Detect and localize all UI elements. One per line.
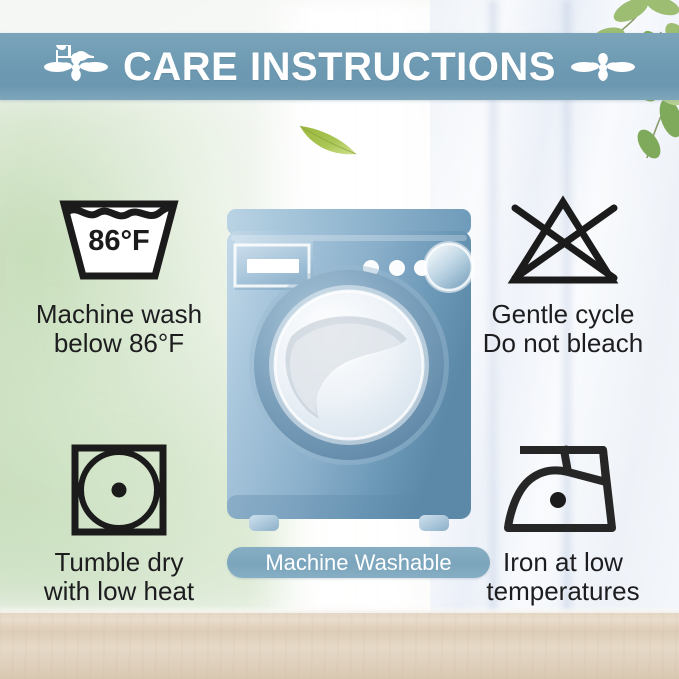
green-leaf-icon [296, 120, 360, 160]
banner: CARE INSTRUCTIONS [0, 33, 679, 100]
iron-icon [452, 440, 674, 540]
care-item-iron: Iron at low temperatures [452, 440, 674, 606]
machine-foot-right [419, 515, 449, 531]
program-knob [423, 241, 475, 293]
page-title: CARE INSTRUCTIONS [123, 47, 556, 87]
machine-washable-badge: Machine Washable [227, 547, 490, 578]
care-item-machine-wash: 86°F Machine wash below 86°F [8, 192, 230, 358]
machine-washable-label: Machine Washable [265, 552, 451, 574]
care-caption-machine-wash: Machine wash below 86°F [8, 300, 230, 358]
care-caption-do-not-bleach: Gentle cycle Do not bleach [452, 300, 674, 358]
wash-tub-icon: 86°F [8, 192, 230, 292]
care-caption-tumble-dry: Tumble dry with low heat [8, 548, 230, 606]
fleur-de-lis-icon-left [43, 45, 109, 89]
care-item-do-not-bleach: Gentle cycle Do not bleach [452, 192, 674, 358]
fleur-de-lis-icon-right [570, 45, 636, 89]
washing-machine-illustration [221, 205, 477, 540]
wash-temperature-label: 86°F [88, 225, 150, 257]
crossed-triangle-bleach-icon [452, 192, 674, 292]
tumble-dry-square-icon [8, 440, 230, 540]
washer-door [249, 265, 449, 465]
care-item-tumble-dry: Tumble dry with low heat [8, 440, 230, 606]
machine-foot-left [249, 515, 279, 531]
wooden-table-grain [0, 613, 679, 679]
care-instructions-infographic: CARE INSTRUCTIONS [0, 0, 679, 679]
